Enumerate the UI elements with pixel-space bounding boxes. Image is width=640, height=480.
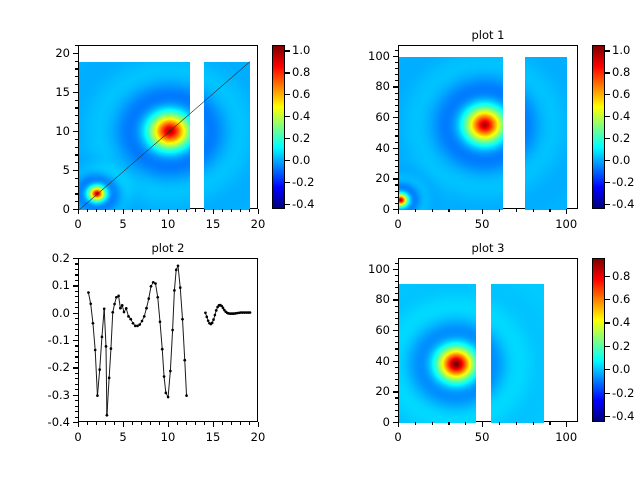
chart-title: plot 3 xyxy=(398,241,578,255)
colorbar-tick xyxy=(605,322,610,323)
colorbar-tick-label: -0.2 xyxy=(612,386,634,400)
y-minor-tick xyxy=(395,367,398,368)
x-minor-tick xyxy=(549,422,550,425)
x-major-tick xyxy=(566,422,567,427)
y-minor-tick xyxy=(395,336,398,337)
x-tick-label: 50 xyxy=(475,430,490,444)
y-minor-tick xyxy=(395,324,398,325)
y-minor-tick xyxy=(395,281,398,282)
y-minor-tick xyxy=(395,306,398,307)
colorbar-tick xyxy=(605,276,610,277)
x-minor-tick xyxy=(465,422,466,425)
colorbar-tick xyxy=(605,299,610,300)
y-major-tick xyxy=(393,299,398,300)
colorbar-tick xyxy=(605,393,610,394)
y-minor-tick xyxy=(395,293,398,294)
colorbar-tick-label: 0.2 xyxy=(612,339,630,353)
y-tick-label: 60 xyxy=(332,323,390,337)
y-minor-tick xyxy=(395,275,398,276)
y-minor-tick xyxy=(395,373,398,374)
y-minor-tick xyxy=(395,318,398,319)
x-tick-label: 0 xyxy=(394,430,401,444)
x-minor-tick xyxy=(432,422,433,425)
y-minor-tick xyxy=(395,404,398,405)
y-minor-tick xyxy=(395,348,398,349)
colorbar-tick-label: 0.6 xyxy=(612,292,630,306)
panel-plot3: plot 3050100020406080100-0.4-0.20.00.20.… xyxy=(0,0,640,480)
y-major-tick xyxy=(393,330,398,331)
y-minor-tick xyxy=(395,410,398,411)
x-minor-tick xyxy=(415,422,416,425)
y-tick-label: 100 xyxy=(332,262,390,276)
y-major-tick xyxy=(393,269,398,270)
x-tick-label: 100 xyxy=(555,430,577,444)
colorbar-tick-label: 0.0 xyxy=(612,362,630,376)
colorbar-plot3 xyxy=(592,258,605,422)
y-tick-label: 20 xyxy=(332,384,390,398)
y-minor-tick xyxy=(395,355,398,356)
y-minor-tick xyxy=(395,379,398,380)
x-minor-tick xyxy=(499,422,500,425)
y-tick-label: 0 xyxy=(332,415,390,429)
x-major-tick xyxy=(398,422,399,427)
heatmap-field xyxy=(399,259,579,423)
y-major-tick xyxy=(393,422,398,423)
y-major-tick xyxy=(393,361,398,362)
colorbar-tick-label: 0.8 xyxy=(612,269,630,283)
y-minor-tick xyxy=(395,385,398,386)
y-minor-tick xyxy=(395,342,398,343)
colorbar-gradient xyxy=(593,259,604,421)
y-tick-label: 40 xyxy=(332,354,390,368)
y-minor-tick xyxy=(395,263,398,264)
y-minor-tick xyxy=(395,287,398,288)
y-minor-tick xyxy=(395,397,398,398)
y-minor-tick xyxy=(395,312,398,313)
y-major-tick xyxy=(393,391,398,392)
x-minor-tick xyxy=(533,422,534,425)
colorbar-tick-label: 0.4 xyxy=(612,315,630,329)
colorbar-tick xyxy=(605,346,610,347)
y-tick-label: 80 xyxy=(332,292,390,306)
x-major-tick xyxy=(482,422,483,427)
colorbar-tick xyxy=(605,369,610,370)
colorbar-tick xyxy=(605,416,610,417)
figure-canvas: 0510152005101520-0.4-0.20.00.20.40.60.81… xyxy=(0,0,640,480)
x-minor-tick xyxy=(448,422,449,425)
y-minor-tick xyxy=(395,416,398,417)
axes-plot3 xyxy=(398,258,578,422)
colorbar-tick-label: -0.4 xyxy=(612,409,634,423)
x-minor-tick xyxy=(516,422,517,425)
